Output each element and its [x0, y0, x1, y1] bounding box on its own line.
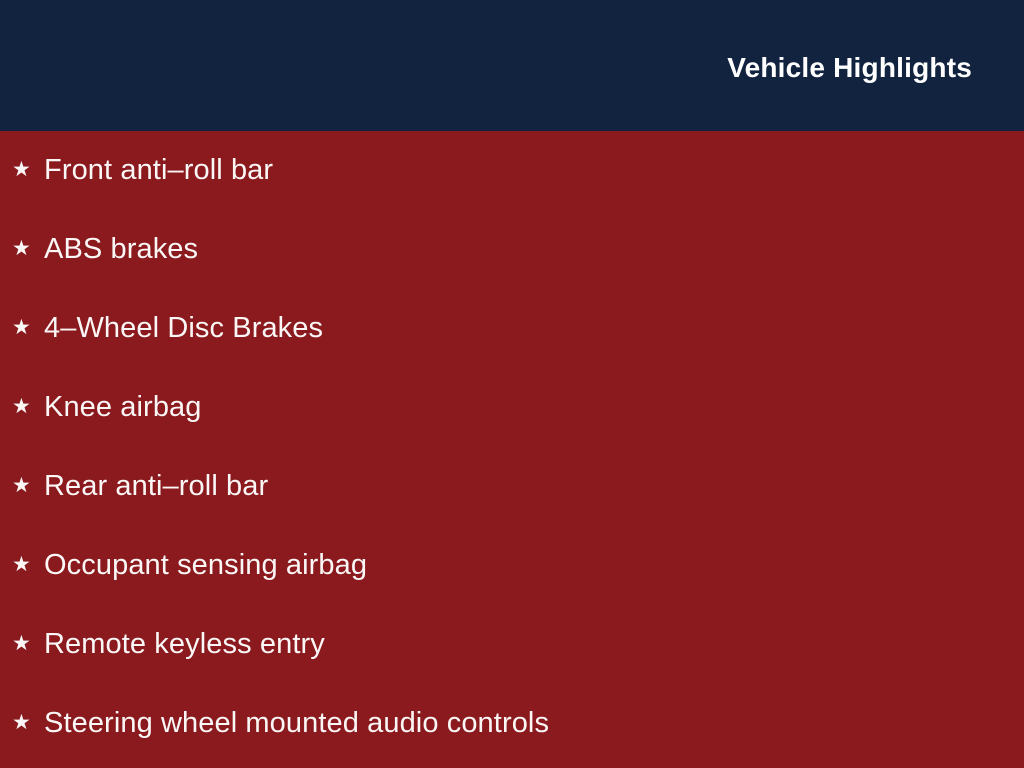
- list-item: ★Steering wheel mounted audio controls: [0, 684, 1024, 763]
- feature-label: 4–Wheel Disc Brakes: [44, 313, 323, 345]
- presentation-slide: Vehicle Highlights ★Front anti–roll bar★…: [0, 0, 1024, 768]
- slide-body: ★Front anti–roll bar★ABS brakes★4–Wheel …: [0, 131, 1024, 768]
- list-item: ★4–Wheel Disc Brakes: [0, 289, 1024, 368]
- list-item: ★Rear anti–roll bar: [0, 447, 1024, 526]
- star-icon: ★: [12, 633, 44, 654]
- star-icon: ★: [12, 712, 44, 733]
- star-icon: ★: [12, 238, 44, 259]
- feature-label: Occupant sensing airbag: [44, 550, 367, 582]
- feature-label: Front anti–roll bar: [44, 155, 273, 187]
- list-item: ★ABS brakes: [0, 210, 1024, 289]
- feature-label: ABS brakes: [44, 234, 198, 266]
- star-icon: ★: [12, 396, 44, 417]
- feature-label: Rear anti–roll bar: [44, 471, 268, 503]
- star-icon: ★: [12, 317, 44, 338]
- star-icon: ★: [12, 475, 44, 496]
- slide-header-band: Vehicle Highlights: [0, 0, 1024, 131]
- feature-label: Remote keyless entry: [44, 629, 325, 661]
- list-item: ★Knee airbag: [0, 368, 1024, 447]
- feature-label: Steering wheel mounted audio controls: [44, 708, 549, 740]
- feature-label: Knee airbag: [44, 392, 202, 424]
- vehicle-feature-list: ★Front anti–roll bar★ABS brakes★4–Wheel …: [0, 131, 1024, 763]
- page-title: Vehicle Highlights: [727, 54, 972, 82]
- list-item: ★Occupant sensing airbag: [0, 526, 1024, 605]
- star-icon: ★: [12, 554, 44, 575]
- star-icon: ★: [12, 159, 44, 180]
- list-item: ★Front anti–roll bar: [0, 131, 1024, 210]
- list-item: ★Remote keyless entry: [0, 605, 1024, 684]
